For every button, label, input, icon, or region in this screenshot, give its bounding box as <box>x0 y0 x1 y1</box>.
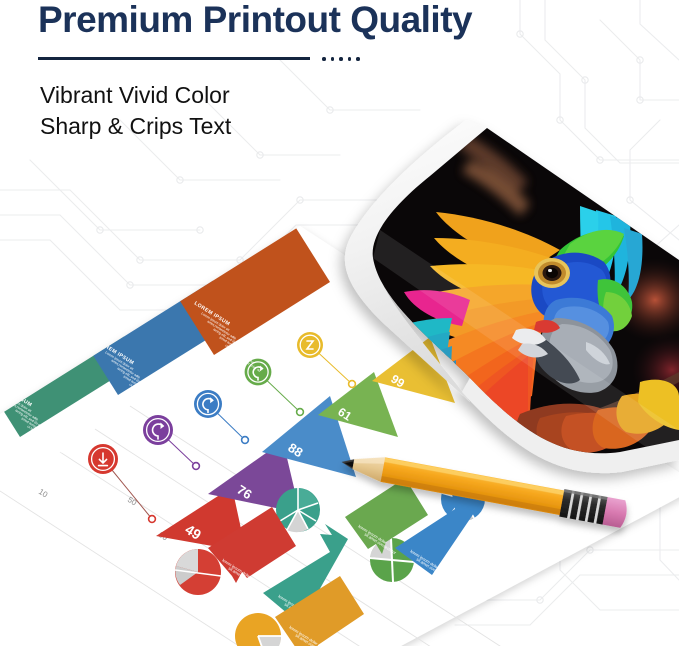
divider-dot <box>331 57 335 61</box>
divider-dot <box>339 57 343 61</box>
divider-line <box>38 57 310 60</box>
subtitle-block: Vibrant Vivid Color Sharp & Crips Text <box>40 80 231 141</box>
poster-canvas: 100 50 00 10 49 76 <box>0 0 679 646</box>
divider-dot <box>348 57 352 61</box>
divider-dot <box>356 57 360 61</box>
title-divider <box>38 57 360 61</box>
subtitle-line-2: Sharp & Crips Text <box>40 111 231 142</box>
divider-dot <box>322 57 326 61</box>
subtitle-line-1: Vibrant Vivid Color <box>40 80 231 111</box>
divider-dots <box>322 57 360 61</box>
page-title: Premium Printout Quality <box>38 0 472 42</box>
